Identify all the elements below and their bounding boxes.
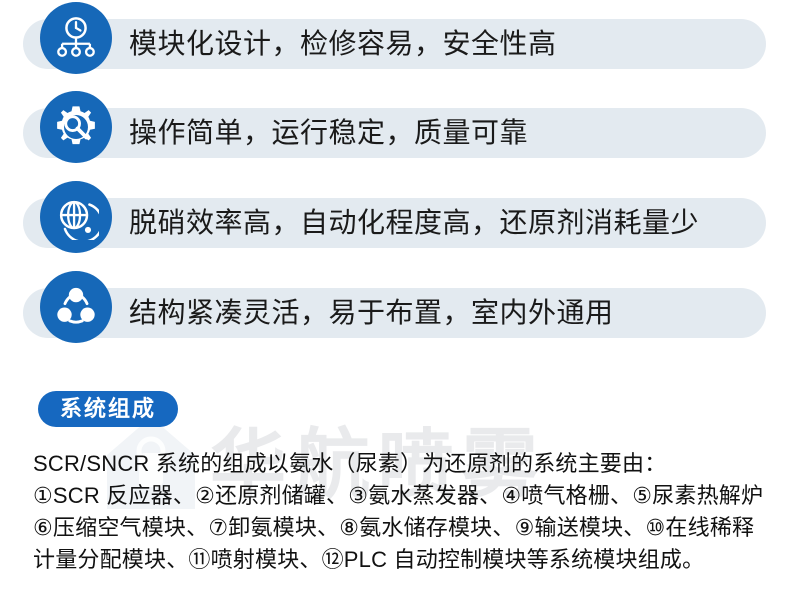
feature-row: 模块化设计，检修容易，安全性高	[23, 19, 766, 69]
feature-label: 操作简单，运行稳定，质量可靠	[129, 108, 528, 158]
globe-ring-icon	[40, 181, 112, 253]
gear-wrench-icon	[40, 91, 112, 163]
feature-label: 结构紧凑灵活，易于布置，室内外通用	[129, 288, 614, 338]
feature-row: 操作简单，运行稳定，质量可靠	[23, 108, 766, 158]
feature-label: 脱硝效率高，自动化程度高，还原剂消耗量少	[129, 198, 699, 248]
paragraph-line: SCR/SNCR 系统的组成以氨水（尿素）为还原剂的系统主要由：	[33, 448, 773, 480]
feature-row: 结构紧凑灵活，易于布置，室内外通用	[23, 288, 766, 338]
section-badge: 系统组成	[38, 391, 178, 427]
paragraph-line: ⑥压缩空气模块、⑦卸氨模块、⑧氨水储存模块、⑨输送模块、⑩在线稀释	[33, 512, 773, 544]
feature-label: 模块化设计，检修容易，安全性高	[129, 19, 557, 69]
system-composition-paragraph: SCR/SNCR 系统的组成以氨水（尿素）为还原剂的系统主要由： ①SCR 反应…	[33, 448, 773, 576]
clock-hierarchy-icon	[40, 2, 112, 74]
paragraph-line: ①SCR 反应器、②还原剂储罐、③氨水蒸发器、④喷气格栅、⑤尿素热解炉	[33, 480, 773, 512]
share-network-icon	[40, 271, 112, 343]
feature-row: 脱硝效率高，自动化程度高，还原剂消耗量少	[23, 198, 766, 248]
paragraph-line: 计量分配模块、⑪喷射模块、⑫PLC 自动控制模块等系统模块组成。	[33, 544, 773, 576]
